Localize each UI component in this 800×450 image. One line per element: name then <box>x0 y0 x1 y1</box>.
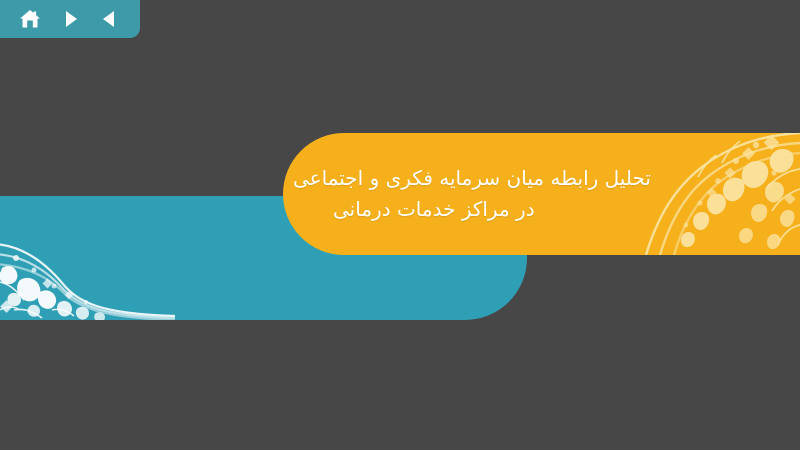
home-button[interactable] <box>17 6 43 32</box>
home-icon <box>19 8 41 30</box>
presentation-slide: تحلیل رابطه میان سرمایه فکری و اجتماعی د… <box>0 0 800 450</box>
triangle-right-icon <box>60 9 80 29</box>
arabesque-ornament-orange <box>640 133 800 255</box>
next-slide-button[interactable] <box>57 6 83 32</box>
arabesque-ornament-teal <box>0 210 175 320</box>
triangle-left-icon <box>100 9 120 29</box>
navigation-bar <box>0 0 140 38</box>
previous-slide-button[interactable] <box>97 6 123 32</box>
title-band <box>283 133 800 255</box>
